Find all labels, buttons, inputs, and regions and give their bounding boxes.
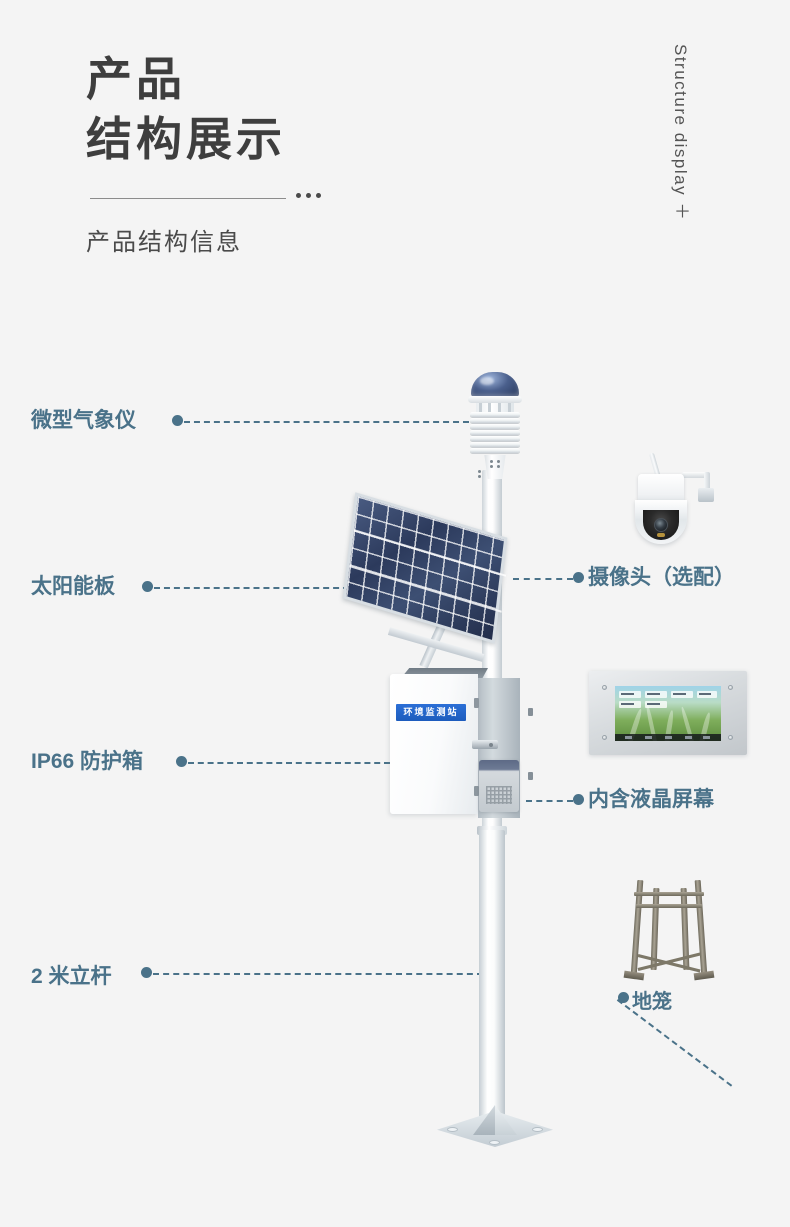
camera-lens-icon (654, 518, 668, 532)
cage-cross-bar (634, 892, 704, 896)
callout-line-weather-sensor (184, 421, 469, 423)
callout-label-weather-sensor: 微型气象仪 (31, 404, 136, 434)
callout-dot-ip66-enclosure (176, 756, 187, 767)
radiation-shield (470, 412, 520, 456)
base-bolt-hole (532, 1127, 543, 1132)
enclosure-nameplate-text: 环境监测站 (403, 708, 458, 717)
product-structure-page: 产品 结构展示 产品结构信息 Structure display ＋ 微型气象仪… (0, 0, 790, 1227)
title-dot (306, 193, 311, 198)
callout-dot-solar-panel (142, 581, 153, 592)
cage-foot (624, 971, 645, 981)
lcd-display-unit (589, 671, 747, 755)
solar-panel-assembly (349, 515, 524, 655)
micro-weather-sensor (466, 372, 524, 482)
lcd-frame-screw (602, 735, 607, 740)
callout-line-lcd-screen (526, 800, 573, 802)
mounting-pole-lower (479, 830, 505, 1118)
camera-glass-window (643, 510, 679, 540)
lcd-frame-screw (728, 685, 733, 690)
page-title-line2: 结构展示 (86, 114, 286, 166)
sensor-top-cap (468, 396, 522, 403)
callout-dot-camera (573, 572, 584, 583)
ground-cage (622, 872, 718, 984)
base-bolt-hole (489, 1140, 500, 1145)
callout-dot-two-meter-pole (141, 967, 152, 978)
enclosure-mount-tab (528, 772, 533, 780)
enclosure-front-door (390, 674, 478, 814)
vertical-english-caption: Structure display ＋ (668, 44, 693, 221)
base-bolt-hole (447, 1127, 458, 1132)
solar-panel (343, 492, 508, 644)
ptz-camera (628, 452, 726, 550)
callout-line-solar-panel (154, 587, 359, 589)
enclosure-nameplate: 环境监测站 (396, 704, 466, 721)
enclosure-vent-grille (486, 786, 512, 804)
enclosure-hinge (474, 698, 479, 708)
enclosure-mount-tab (528, 708, 533, 716)
sensor-air-gap (476, 403, 514, 412)
lcd-taskbar (615, 734, 721, 741)
page-subtitle: 产品结构信息 (86, 222, 242, 257)
callout-dot-weather-sensor (172, 415, 183, 426)
callout-label-ip66-enclosure: IP66 防护箱 (31, 745, 143, 775)
title-divider (90, 198, 286, 199)
lcd-frame-screw (728, 735, 733, 740)
pole-base-plate (437, 1105, 553, 1149)
title-dot (296, 193, 301, 198)
camera-dome (635, 500, 687, 544)
callout-label-lcd-screen: 内含液晶屏幕 (588, 783, 714, 813)
title-dots-decoration (296, 193, 321, 198)
sensor-neck (481, 455, 509, 479)
enclosure-door-latch (472, 740, 498, 749)
callout-line-two-meter-pole (153, 973, 483, 975)
callout-line-ip66-enclosure (188, 762, 390, 764)
lcd-screen-content (615, 686, 721, 741)
camera-ir-led (657, 533, 665, 537)
callout-dot-lcd-screen (573, 794, 584, 805)
callout-line-ground-cage (617, 999, 732, 1087)
callout-label-camera: 摄像头（选配） (588, 561, 735, 591)
title-dot (316, 193, 321, 198)
lcd-frame-screw (602, 685, 607, 690)
sensor-dome-icon (471, 372, 519, 398)
page-title-line1: 产品 (86, 54, 186, 106)
camera-wall-plate (698, 488, 714, 502)
enclosure-vent-module (479, 760, 519, 812)
ip66-enclosure-box: 环境监测站 (390, 668, 530, 820)
cage-cross-bar (636, 904, 702, 908)
callout-label-ground-cage: 地笼 (632, 985, 672, 1014)
callout-label-two-meter-pole: 2 米立杆 (31, 960, 112, 990)
callout-label-solar-panel: 太阳能板 (31, 570, 115, 600)
cage-foot (694, 971, 715, 981)
